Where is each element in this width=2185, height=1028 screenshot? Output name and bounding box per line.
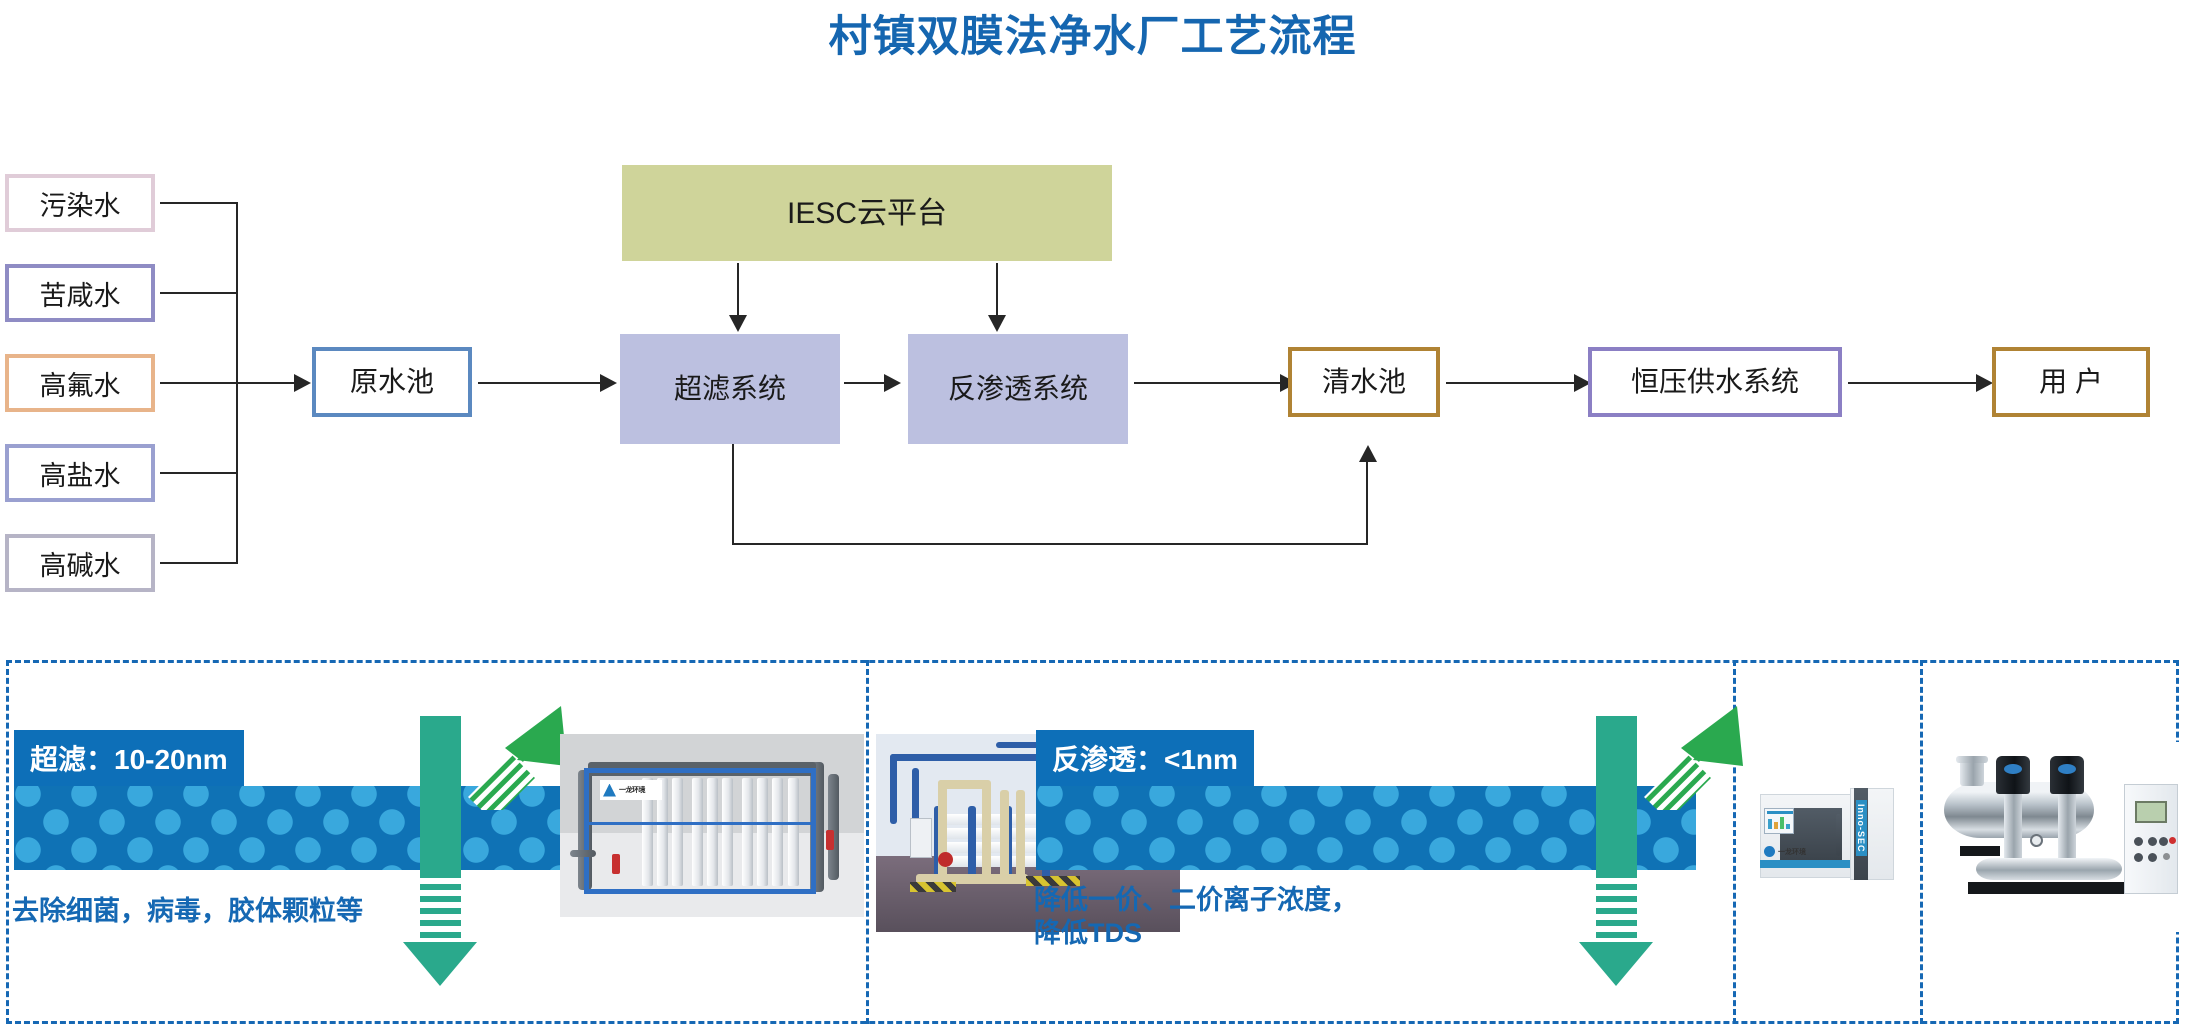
source-box-polluted-water[interactable]: 污染水 — [5, 174, 155, 232]
uf-to-ro-line — [844, 382, 886, 384]
node-label: 恒压供水系统 — [1631, 367, 1799, 398]
ultrafiltration-skid-photo: 一龙环境 — [560, 734, 864, 917]
cabinet-logo-text: 一龙环境 — [1778, 847, 1806, 857]
uf-permeate-arrowhead — [403, 942, 477, 986]
equipment-logo: 一龙环境 — [600, 780, 662, 800]
recycle-line-across — [732, 543, 1368, 545]
reverse-osmosis-caption: 降低一价、二价离子浓度， 降低TDS — [1034, 884, 1514, 950]
source-label: 苦咸水 — [40, 274, 121, 313]
pressure-to-user-arrow — [1976, 374, 1993, 392]
uf-to-ro-arrow — [884, 374, 901, 392]
ultrafiltration-badge: 超滤：10-20nm — [14, 730, 244, 786]
raw-to-uf-line — [478, 382, 602, 384]
cloud-to-uf-line — [737, 263, 739, 319]
source-stub-3 — [160, 382, 238, 384]
clean-to-pressure-line — [1446, 382, 1576, 384]
ro-to-clean-line — [1134, 382, 1282, 384]
bus-to-raw-tank-line — [236, 382, 296, 384]
cloud-to-ro-arrow — [988, 315, 1006, 332]
panel-divider-3 — [1920, 660, 1923, 1024]
node-clean-water-tank[interactable]: 清水池 — [1288, 347, 1440, 417]
ultrafiltration-caption: 去除细菌，病毒，胶体颗粒等 — [12, 895, 432, 928]
cloud-to-ro-line — [996, 263, 998, 319]
reverse-osmosis-badge-text: 反渗透：<1nm — [1052, 738, 1238, 778]
recycle-arrow-up — [1359, 445, 1377, 462]
raw-to-uf-arrow — [600, 374, 617, 392]
panel-divider-1 — [866, 660, 869, 1024]
cloud-to-uf-arrow — [729, 315, 747, 332]
cnp-booster-pump-photo — [1938, 742, 2182, 932]
source-box-high-fluoride-water[interactable]: 高氟水 — [5, 354, 155, 412]
node-ultrafiltration-system[interactable]: 超滤系统 — [620, 334, 840, 444]
source-label: 高盐水 — [40, 454, 121, 493]
source-stub-5 — [160, 562, 238, 564]
recycle-line-down — [732, 444, 734, 545]
equipment-logo-text: 一龙环境 — [619, 785, 645, 795]
recycle-line-up — [1366, 462, 1368, 545]
source-box-high-alkaline-water[interactable]: 高碱水 — [5, 534, 155, 592]
process-flow-diagram: 村镇双膜法净水厂工艺流程 污染水 苦咸水 高氟水 高盐水 高碱水 原水池 IES… — [0, 0, 2185, 1028]
source-box-high-salinity-water[interactable]: 高盐水 — [5, 444, 155, 502]
node-user[interactable]: 用 户 — [1992, 347, 2150, 417]
cabinet-brand-text: Inno-SEC — [1856, 804, 1866, 853]
pressure-to-user-line — [1848, 382, 1978, 384]
node-label: IESC云平台 — [787, 197, 947, 230]
uf-permeate-stripes — [420, 872, 461, 944]
source-stub-1 — [160, 202, 238, 204]
node-reverse-osmosis-system[interactable]: 反渗透系统 — [908, 334, 1128, 444]
node-iesc-cloud-platform[interactable]: IESC云平台 — [622, 165, 1112, 261]
source-box-brackish-water[interactable]: 苦咸水 — [5, 264, 155, 322]
uf-reject-arrow — [455, 700, 575, 810]
ro-permeate-arrowhead — [1579, 942, 1653, 986]
source-label: 高碱水 — [40, 544, 121, 583]
source-stub-2 — [160, 292, 238, 294]
bus-to-raw-tank-arrow — [294, 374, 311, 392]
page-title: 村镇双膜法净水厂工艺流程 — [0, 2, 2185, 64]
node-label: 原水池 — [350, 367, 434, 398]
reverse-osmosis-badge: 反渗透：<1nm — [1036, 730, 1254, 786]
ultrafiltration-badge-text: 超滤：10-20nm — [30, 738, 228, 778]
source-label: 高氟水 — [40, 364, 121, 403]
inno-sec-cabinet-photo: Inno-SEC 一龙环境 — [1752, 780, 1904, 896]
source-label: 污染水 — [40, 184, 121, 223]
ro-permeate-stripes — [1596, 872, 1637, 944]
node-constant-pressure-supply[interactable]: 恒压供水系统 — [1588, 347, 1842, 417]
node-label: 反渗透系统 — [948, 374, 1088, 405]
node-label: 超滤系统 — [674, 374, 786, 405]
node-raw-water-tank[interactable]: 原水池 — [312, 347, 472, 417]
node-label: 清水池 — [1322, 367, 1406, 398]
node-label: 用 户 — [2039, 367, 2103, 398]
ro-reject-arrow — [1631, 700, 1751, 810]
source-stub-4 — [160, 472, 238, 474]
